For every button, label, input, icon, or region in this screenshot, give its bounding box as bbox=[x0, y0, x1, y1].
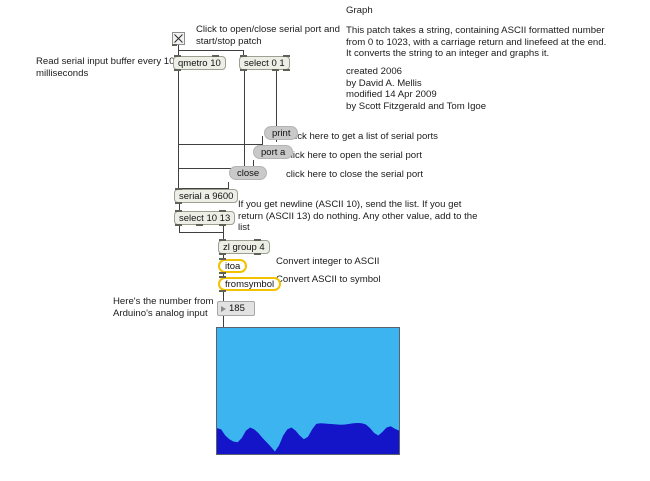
comment-fromsymbol-hint: Convert ASCII to symbol bbox=[276, 274, 476, 286]
comment-toggle-hint: Click to open/close serial port and star… bbox=[196, 24, 356, 47]
message-close[interactable]: close bbox=[229, 166, 267, 180]
object-serial[interactable]: serial a 9600 bbox=[174, 189, 238, 203]
patch-title: Graph bbox=[346, 5, 446, 17]
select01-inlet-0 bbox=[240, 55, 247, 57]
object-itoa[interactable]: itoa bbox=[218, 259, 247, 273]
cord-select1013-to-zl bbox=[179, 232, 224, 233]
qmetro-inlet-0 bbox=[174, 55, 181, 57]
itoa-outlet-0 bbox=[219, 272, 226, 274]
select1013-outlet-0 bbox=[175, 224, 182, 226]
select01-outlet-1 bbox=[272, 69, 279, 71]
object-qmetro[interactable]: qmetro 10 bbox=[173, 56, 226, 70]
serial-inlet-0 bbox=[175, 188, 182, 190]
select1013-outlet-2 bbox=[219, 224, 226, 226]
serial-outlet-0 bbox=[175, 202, 182, 204]
comment-print-hint: Click here to get a list of serial ports bbox=[286, 131, 536, 143]
select01-outlet-0 bbox=[240, 69, 247, 71]
number-box-value[interactable]: 185 bbox=[217, 301, 255, 316]
zl-inlet-0 bbox=[219, 239, 226, 241]
comment-read-buffer: Read serial input buffer every 10 millis… bbox=[36, 56, 196, 79]
select1013-inlet-0 bbox=[175, 210, 182, 212]
toggle-outlet bbox=[172, 44, 177, 46]
cord-qmetro-to-serial bbox=[178, 70, 179, 188]
fromsymbol-inlet-0 bbox=[219, 276, 226, 278]
object-zl-group[interactable]: zl group 4 bbox=[218, 240, 270, 254]
graph-scope[interactable] bbox=[216, 327, 400, 455]
itoa-inlet-0 bbox=[219, 258, 226, 260]
qmetro-outlet-0 bbox=[174, 69, 181, 71]
comment-itoa-hint: Convert integer to ASCII bbox=[276, 256, 476, 268]
select1013-outlet-1 bbox=[196, 224, 203, 226]
patch-credits: created 2006 by David A. Mellis modified… bbox=[346, 66, 586, 112]
object-fromsymbol[interactable]: fromsymbol bbox=[218, 277, 281, 291]
patch-description: This patch takes a string, containing AS… bbox=[346, 25, 646, 60]
message-print[interactable]: print bbox=[264, 126, 298, 140]
select1013-inlet-1 bbox=[219, 210, 226, 212]
object-select-0-1[interactable]: select 0 1 bbox=[239, 56, 290, 70]
comment-number-hint: Here's the number from Arduino's analog … bbox=[113, 296, 228, 319]
select01-outlet-2 bbox=[283, 69, 290, 71]
zl-inlet-1 bbox=[254, 239, 261, 241]
comment-select-hint: If you get newline (ASCII 10), send the … bbox=[238, 199, 488, 234]
fromsymbol-outlet-0 bbox=[219, 290, 226, 292]
object-select-10-13[interactable]: select 10 13 bbox=[174, 211, 235, 225]
zl-outlet-1 bbox=[254, 253, 261, 255]
zl-outlet-0 bbox=[219, 253, 226, 255]
select01-inlet-1 bbox=[283, 55, 290, 57]
x-mark-icon bbox=[173, 33, 184, 44]
cord-print-to-serial bbox=[179, 144, 263, 145]
cord-select01-left-outlet bbox=[244, 70, 245, 168]
qmetro-inlet-1 bbox=[212, 55, 219, 57]
comment-port-hint: click here to open the serial port bbox=[286, 150, 536, 162]
patcher-canvas[interactable]: Read serial input buffer every 10 millis… bbox=[0, 0, 650, 481]
cord-toggle-to-select01 bbox=[178, 50, 244, 51]
graph-waveform bbox=[217, 328, 399, 454]
message-port-a[interactable]: port a bbox=[253, 145, 293, 159]
comment-close-hint: click here to close the serial port bbox=[286, 169, 536, 181]
